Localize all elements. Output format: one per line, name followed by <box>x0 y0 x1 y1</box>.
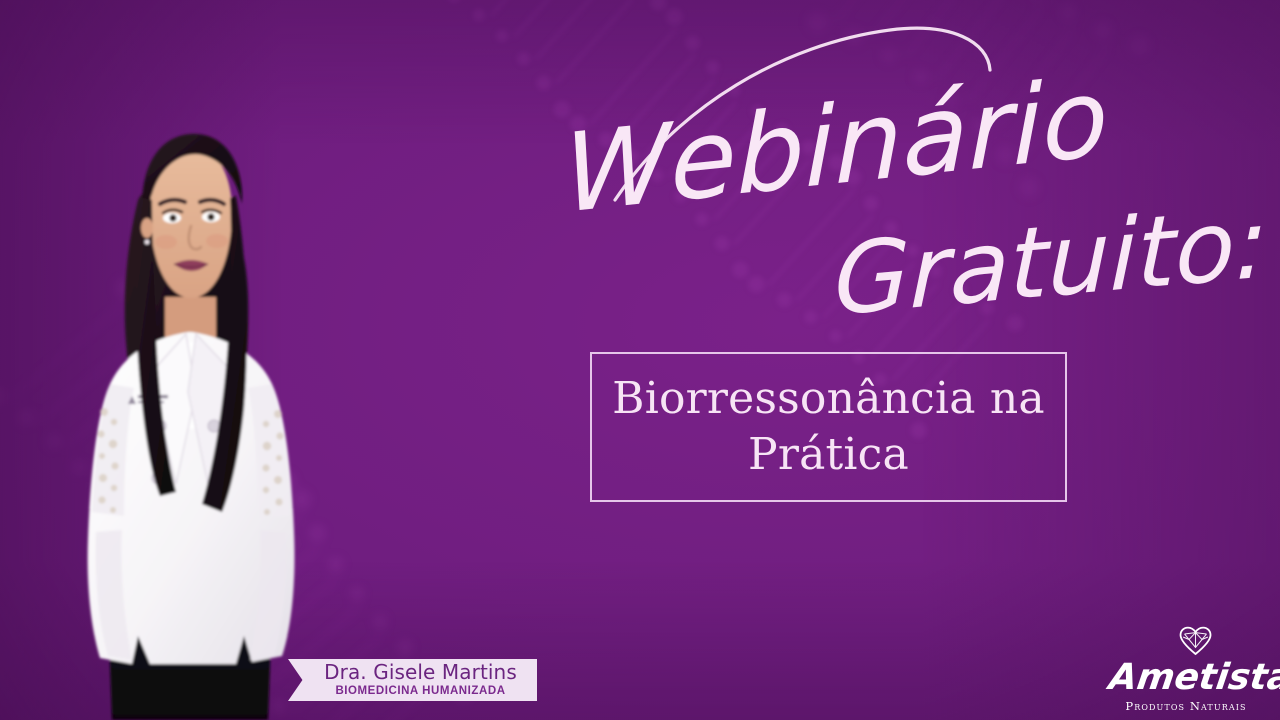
webinar-title-box: Biorressonância na Prática <box>590 352 1067 502</box>
brand-logo: Ametista Produtos Naturais <box>1110 626 1262 712</box>
heart-gem-icon <box>1179 626 1213 661</box>
webinar-banner: Webinário Gratuito: Biorressonância na P… <box>0 0 1280 720</box>
presenter-photo <box>0 92 380 720</box>
title-line-1: Biorressonância na <box>612 373 1045 424</box>
webinar-title: Biorressonância na Prática <box>598 371 1059 484</box>
brand-tagline: Produtos Naturais <box>1125 701 1246 713</box>
title-line-2: Prática <box>748 429 909 480</box>
brand-name: Ametista <box>1104 655 1280 698</box>
script-headline: Webinário Gratuito: <box>560 60 1160 330</box>
presenter-name: Dra. Gisele Martins <box>324 662 517 683</box>
presenter-subtitle: BIOMEDICINA HUMANIZADA <box>335 685 505 698</box>
presenter-name-plate: Dra. Gisele Martins BIOMEDICINA HUMANIZA… <box>288 659 537 701</box>
